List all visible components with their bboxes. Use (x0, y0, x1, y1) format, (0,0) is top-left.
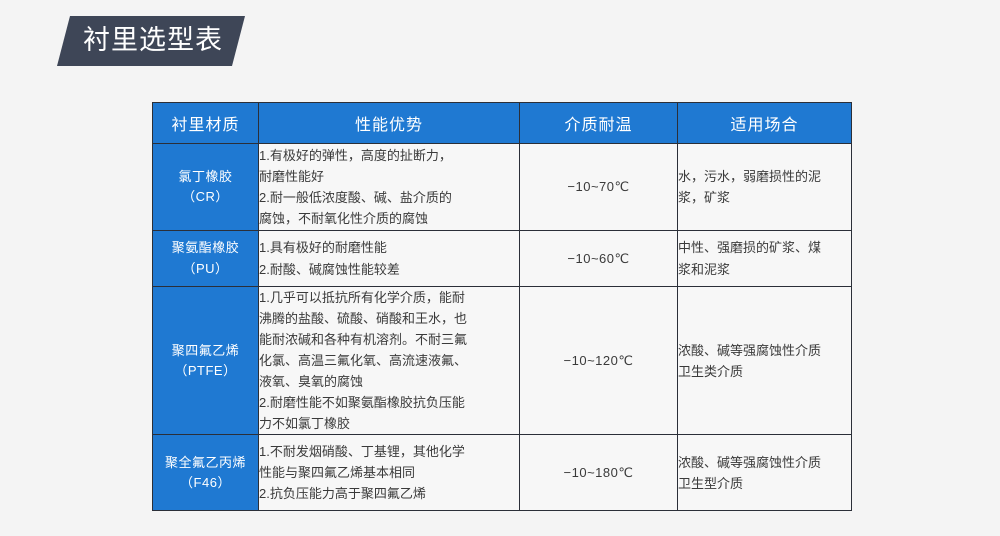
material-name: 聚全氟乙丙烯 (165, 455, 246, 470)
cell-material: 聚氨酯橡胶 （PU） (153, 231, 259, 287)
cell-application: 中性、强磨损的矿浆、煤 浆和泥浆 (678, 231, 852, 287)
performance-line: 2.耐酸、碱腐蚀性能较差 (259, 259, 519, 280)
cell-temperature: −10~120℃ (520, 287, 678, 435)
application-line: 中性、强磨损的矿浆、煤 (678, 237, 851, 258)
performance-line: 耐磨性能好 (259, 166, 519, 187)
table-header-row: 衬里材质 性能优势 介质耐温 适用场合 (153, 103, 852, 144)
performance-line: 沸腾的盐酸、硫酸、硝酸和王水，也 (259, 308, 519, 329)
material-name: 聚四氟乙烯 (172, 343, 240, 358)
performance-line: 1.几乎可以抵抗所有化学介质，能耐 (259, 287, 519, 308)
performance-line: 腐蚀，不耐氧化性介质的腐蚀 (259, 208, 519, 229)
application-line: 浓酸、碱等强腐蚀性介质 (678, 340, 851, 361)
page-title-banner: 衬里选型表 (57, 16, 245, 66)
application-line: 卫生类介质 (678, 361, 851, 382)
cell-temperature: −10~60℃ (520, 231, 678, 287)
performance-line: 力不如氯丁橡胶 (259, 413, 519, 434)
performance-line: 1.有极好的弹性，高度的扯断力， (259, 145, 519, 166)
performance-line: 化氯、高温三氟化氧、高流速液氟、 (259, 350, 519, 371)
performance-line: 2.耐一般低浓度酸、碱、盐介质的 (259, 187, 519, 208)
application-line: 浆，矿浆 (678, 187, 851, 208)
cell-performance: 1.具有极好的耐磨性能 2.耐酸、碱腐蚀性能较差 (259, 231, 520, 287)
cell-material: 聚全氟乙丙烯 （F46） (153, 435, 259, 511)
application-line: 水，污水，弱磨损性的泥 (678, 166, 851, 187)
material-name: 氯丁橡胶 (178, 169, 232, 184)
table-row: 氯丁橡胶 （CR） 1.有极好的弹性，高度的扯断力， 耐磨性能好 2.耐一般低浓… (153, 144, 852, 231)
table-row: 聚全氟乙丙烯 （F46） 1.不耐发烟硝酸、丁基锂，其他化学 性能与聚四氟乙烯基… (153, 435, 852, 511)
material-abbr: （PU） (153, 259, 258, 279)
application-line: 浆和泥浆 (678, 259, 851, 280)
performance-line: 2.耐磨性能不如聚氨酯橡胶抗负压能 (259, 392, 519, 413)
cell-material: 聚四氟乙烯 （PTFE） (153, 287, 259, 435)
column-header-material: 衬里材质 (153, 103, 259, 144)
cell-temperature: −10~70℃ (520, 144, 678, 231)
performance-line: 能耐浓碱和各种有机溶剂。不耐三氟 (259, 329, 519, 350)
performance-line: 性能与聚四氟乙烯基本相同 (259, 462, 519, 483)
lining-selection-table-wrapper: 衬里材质 性能优势 介质耐温 适用场合 氯丁橡胶 （CR） 1.有极好的弹性，高… (152, 102, 851, 511)
cell-material: 氯丁橡胶 （CR） (153, 144, 259, 231)
cell-application: 水，污水，弱磨损性的泥 浆，矿浆 (678, 144, 852, 231)
performance-line: 1.具有极好的耐磨性能 (259, 237, 519, 258)
cell-application: 浓酸、碱等强腐蚀性介质 卫生类介质 (678, 287, 852, 435)
column-header-performance: 性能优势 (259, 103, 520, 144)
table-row: 聚四氟乙烯 （PTFE） 1.几乎可以抵抗所有化学介质，能耐 沸腾的盐酸、硫酸、… (153, 287, 852, 435)
cell-performance: 1.几乎可以抵抗所有化学介质，能耐 沸腾的盐酸、硫酸、硝酸和王水，也 能耐浓碱和… (259, 287, 520, 435)
performance-line: 2.抗负压能力高于聚四氟乙烯 (259, 483, 519, 504)
cell-performance: 1.不耐发烟硝酸、丁基锂，其他化学 性能与聚四氟乙烯基本相同 2.抗负压能力高于… (259, 435, 520, 511)
cell-application: 浓酸、碱等强腐蚀性介质 卫生型介质 (678, 435, 852, 511)
material-abbr: （F46） (153, 473, 258, 493)
application-line: 浓酸、碱等强腐蚀性介质 (678, 452, 851, 473)
material-abbr: （PTFE） (153, 361, 258, 381)
material-name: 聚氨酯橡胶 (172, 240, 240, 255)
application-line: 卫生型介质 (678, 473, 851, 494)
cell-performance: 1.有极好的弹性，高度的扯断力， 耐磨性能好 2.耐一般低浓度酸、碱、盐介质的 … (259, 144, 520, 231)
performance-line: 1.不耐发烟硝酸、丁基锂，其他化学 (259, 441, 519, 462)
column-header-temperature: 介质耐温 (520, 103, 678, 144)
performance-line: 液氧、臭氧的腐蚀 (259, 371, 519, 392)
cell-temperature: −10~180℃ (520, 435, 678, 511)
lining-selection-table: 衬里材质 性能优势 介质耐温 适用场合 氯丁橡胶 （CR） 1.有极好的弹性，高… (152, 102, 852, 511)
material-abbr: （CR） (153, 187, 258, 207)
page-title: 衬里选型表 (57, 16, 245, 66)
table-body: 氯丁橡胶 （CR） 1.有极好的弹性，高度的扯断力， 耐磨性能好 2.耐一般低浓… (153, 144, 852, 511)
table-header: 衬里材质 性能优势 介质耐温 适用场合 (153, 103, 852, 144)
column-header-application: 适用场合 (678, 103, 852, 144)
table-row: 聚氨酯橡胶 （PU） 1.具有极好的耐磨性能 2.耐酸、碱腐蚀性能较差 −10~… (153, 231, 852, 287)
